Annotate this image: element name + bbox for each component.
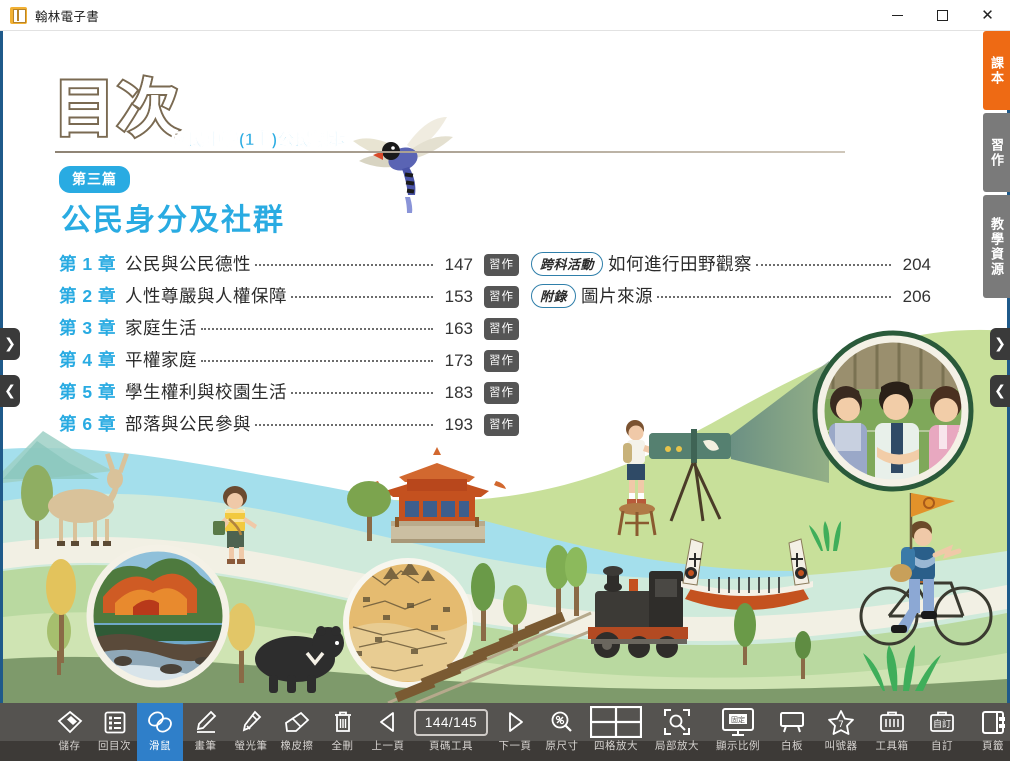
side-tab-workbook[interactable]: 習作 xyxy=(983,113,1010,192)
toolbar-button-custom[interactable]: 自訂 自訂 xyxy=(917,703,967,761)
toolbar-label: 局部放大 xyxy=(655,741,699,756)
part-title: 公民身分及社群 xyxy=(61,195,285,239)
svg-text:自訂: 自訂 xyxy=(933,718,951,730)
section-title[interactable]: 圖片來源 xyxy=(581,283,653,308)
toc-entry[interactable]: 跨科活動 如何進行田野觀察 204 xyxy=(531,251,931,283)
toolbar-button-number-caller[interactable]: 7 叫號器 xyxy=(815,703,867,761)
workbook-tag[interactable]: 習作 xyxy=(484,254,519,276)
toolbar-label: 四格放大 xyxy=(594,741,638,756)
toolbar-label: 白板 xyxy=(781,741,803,756)
section-title[interactable]: 如何進行田野觀察 xyxy=(608,251,752,276)
toc-entry[interactable]: 第 3 章 家庭生活 163 習作 xyxy=(59,315,519,347)
toolbar-button-highlighter[interactable]: 螢光筆 xyxy=(228,703,274,761)
chapter-number: 第 6 章 xyxy=(59,411,125,436)
workbook-tag[interactable]: 習作 xyxy=(484,318,519,340)
toolbar-label: 滑鼠 xyxy=(149,741,171,756)
toolbar-button-bookmark-tab[interactable]: 頁籤 xyxy=(967,703,1010,761)
toolbar-label: 上一頁 xyxy=(372,741,405,756)
toolbar-label: 工具箱 xyxy=(876,741,909,756)
toolbar-label: 橡皮擦 xyxy=(281,741,314,756)
toolbar-button-save[interactable]: 儲存 xyxy=(47,703,92,761)
toolbar-button-whiteboard[interactable]: 白板 xyxy=(769,703,815,761)
next-page-icon xyxy=(491,703,539,741)
window-title: 翰林電子書 xyxy=(35,6,99,25)
trash-icon xyxy=(320,703,365,741)
toc-left-column: 第 1 章 公民與公民德性 147 習作 第 2 章 人性尊嚴與人權保障 153… xyxy=(59,251,519,443)
chapter-title[interactable]: 平權家庭 xyxy=(125,347,197,372)
chapter-number: 第 2 章 xyxy=(59,283,125,308)
toc-list-icon xyxy=(92,703,137,741)
workbook-tag[interactable]: 習作 xyxy=(484,286,519,308)
ebook-reader-window: 翰林電子書 ✕ xyxy=(0,0,1010,761)
close-button[interactable]: ✕ xyxy=(965,0,1010,31)
header-divider xyxy=(55,151,845,153)
toc-entry[interactable]: 第 6 章 部落與公民參與 193 習作 xyxy=(59,411,519,443)
right-panel-expand-arrow[interactable]: ❯ xyxy=(990,328,1010,360)
mouse-cursor-icon xyxy=(137,703,183,741)
bottom-toolbar: 儲存 回目次 滑鼠 畫筆 螢光筆 xyxy=(0,703,1010,761)
part-badge: 第三篇 xyxy=(59,166,130,193)
toolbar-label: 下一頁 xyxy=(499,741,532,756)
page-canvas[interactable]: 目次 目次 國民中學(1上)公民課本 第三篇 公民身分及社群 第 1 章 公民與… xyxy=(0,31,1010,703)
book-icon xyxy=(10,7,27,24)
leader-dots xyxy=(657,296,891,298)
toolbar-button-next-page[interactable]: 下一頁 xyxy=(491,703,539,761)
chapter-number: 第 5 章 xyxy=(59,379,125,404)
toolbar-button-mouse[interactable]: 滑鼠 xyxy=(137,703,183,761)
custom-icon: 自訂 xyxy=(917,703,967,741)
toolbar-label: 原尺寸 xyxy=(546,741,579,756)
leader-dots xyxy=(201,360,433,362)
right-panel-collapse-arrow[interactable]: ❮ xyxy=(990,375,1010,407)
page-number: 206 xyxy=(897,287,931,307)
leader-dots xyxy=(201,328,433,330)
toolbar-button-actual-size[interactable]: 原尺寸 xyxy=(539,703,585,761)
partial-zoom-icon xyxy=(647,703,707,741)
toolbar-label: 頁籤 xyxy=(982,741,1004,756)
page-number: 153 xyxy=(439,287,473,307)
chapter-title[interactable]: 人性尊嚴與人權保障 xyxy=(125,283,287,308)
page-number: 173 xyxy=(439,351,473,371)
page-number-box: 144/145 xyxy=(411,703,491,741)
workbook-tag[interactable]: 習作 xyxy=(484,382,519,404)
leader-dots xyxy=(291,296,433,298)
toolbar-button-eraser[interactable]: 橡皮擦 xyxy=(274,703,320,761)
workbook-tag[interactable]: 習作 xyxy=(484,350,519,372)
window-controls: ✕ xyxy=(875,0,1010,31)
toolbar-button-display-ratio[interactable]: 固定 顯示比例 xyxy=(707,703,769,761)
toolbar-label: 自訂 xyxy=(931,741,953,756)
toc-entry[interactable]: 第 2 章 人性尊嚴與人權保障 153 習作 xyxy=(59,283,519,315)
maximize-button[interactable] xyxy=(920,0,965,31)
toolbar-label: 儲存 xyxy=(59,741,81,756)
page-number: 193 xyxy=(439,415,473,435)
chapter-title[interactable]: 部落與公民參與 xyxy=(125,411,251,436)
side-tab-strip: 課本 習作 教學資源 xyxy=(983,31,1010,301)
toolbar-button-page-tool[interactable]: 144/145 頁碼工具 xyxy=(411,703,491,761)
toolbar-label: 叫號器 xyxy=(825,741,858,756)
leader-dots xyxy=(756,264,891,266)
toc-right-column: 跨科活動 如何進行田野觀察 204 附錄 圖片來源 206 xyxy=(531,251,931,315)
toolbar-label: 回目次 xyxy=(98,741,131,756)
leader-dots xyxy=(291,392,433,394)
section-tag: 附錄 xyxy=(531,284,576,308)
side-tab-teaching-resources[interactable]: 教學資源 xyxy=(983,195,1010,298)
page-title: 目次 xyxy=(53,79,181,141)
workbook-tag[interactable]: 習作 xyxy=(484,414,519,436)
title-bar: 翰林電子書 ✕ xyxy=(0,0,1010,31)
toc-entry[interactable]: 第 4 章 平權家庭 173 習作 xyxy=(59,347,519,379)
save-diamond-icon xyxy=(47,703,92,741)
highlighter-icon xyxy=(228,703,274,741)
whiteboard-icon xyxy=(769,703,815,741)
leader-dots xyxy=(255,424,433,426)
toolbar-button-prev-page[interactable]: 上一頁 xyxy=(365,703,411,761)
chapter-number: 第 3 章 xyxy=(59,315,125,340)
toolbar-label: 顯示比例 xyxy=(716,741,760,756)
toolbar-button-four-grid-zoom[interactable]: 四格放大 xyxy=(585,703,647,761)
chapter-title[interactable]: 公民與公民德性 xyxy=(125,251,251,276)
page-number: 163 xyxy=(439,319,473,339)
toolbar-label: 畫筆 xyxy=(195,741,217,756)
svg-text:固定: 固定 xyxy=(731,715,745,724)
toolbox-icon xyxy=(867,703,917,741)
minimize-button[interactable] xyxy=(875,0,920,31)
page-number: 183 xyxy=(439,383,473,403)
toc-entry[interactable]: 第 5 章 學生權利與校園生活 183 習作 xyxy=(59,379,519,411)
page-number: 147 xyxy=(439,255,473,275)
star-number-icon: 7 xyxy=(815,703,867,741)
book-subtitle: 國民中學(1上)公民課本 xyxy=(171,126,346,150)
chapter-number: 第 4 章 xyxy=(59,347,125,372)
page-indicator[interactable]: 144/145 xyxy=(414,709,488,736)
chapter-title[interactable]: 家庭生活 xyxy=(125,315,197,340)
toc-entry[interactable]: 第 1 章 公民與公民德性 147 習作 xyxy=(59,251,519,283)
chapter-title[interactable]: 學生權利與校園生活 xyxy=(125,379,287,404)
bookmark-tab-icon xyxy=(967,703,1010,741)
toolbar-label: 頁碼工具 xyxy=(429,741,473,756)
toolbar-label: 螢光筆 xyxy=(235,741,268,756)
pen-icon xyxy=(183,703,228,741)
toolbar-button-partial-zoom[interactable]: 局部放大 xyxy=(647,703,707,761)
display-ratio-icon: 固定 xyxy=(707,703,769,741)
svg-text:7: 7 xyxy=(838,720,844,730)
eraser-icon xyxy=(274,703,320,741)
four-grid-zoom-icon xyxy=(585,703,647,741)
toolbar-button-toc[interactable]: 回目次 xyxy=(92,703,137,761)
toolbar-button-clear-all[interactable]: 全刪 xyxy=(320,703,365,761)
leader-dots xyxy=(255,264,433,266)
actual-size-icon xyxy=(539,703,585,741)
prev-page-icon xyxy=(365,703,411,741)
toolbar-button-toolbox[interactable]: 工具箱 xyxy=(867,703,917,761)
toolbar-label: 全刪 xyxy=(332,741,354,756)
toc-entry[interactable]: 附錄 圖片來源 206 xyxy=(531,283,931,315)
chapter-number: 第 1 章 xyxy=(59,251,125,276)
side-tab-textbook[interactable]: 課本 xyxy=(983,31,1010,110)
section-tag: 跨科活動 xyxy=(531,252,603,276)
left-panel-collapse-arrow[interactable]: ❮ xyxy=(0,375,20,407)
page-number: 204 xyxy=(897,255,931,275)
left-panel-expand-arrow[interactable]: ❯ xyxy=(0,328,20,360)
toolbar-button-pen[interactable]: 畫筆 xyxy=(183,703,228,761)
